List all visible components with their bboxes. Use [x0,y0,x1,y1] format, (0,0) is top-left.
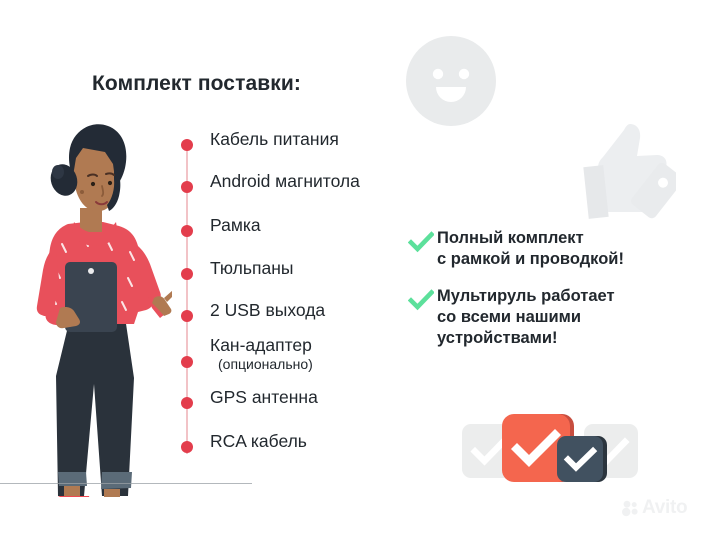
bullet-dot-icon [181,181,193,193]
benefit-label: Мультируль работает со всеми нашими устр… [437,286,615,349]
benefits-block: Полный комплект с рамкой и проводкой! Му… [408,228,708,363]
avito-wordmark: Avito [642,497,687,519]
promo-card: Комплект поставки: [0,0,720,540]
list-item-label: RCA кабель [210,430,307,453]
list-item-label: Кан-адаптер [210,334,312,357]
list-item-label: Рамка [210,214,261,237]
list-item: GPS антенна [176,386,466,420]
thumbs-up-icon [580,122,676,226]
check-icon [408,229,434,255]
woman-pointing-illustration [12,112,172,497]
bullet-dot-icon [181,397,193,409]
list-item-label: 2 USB выхода [210,299,325,322]
list-item-label: Тюльпаны [210,257,293,280]
list-item-sublabel: (опционально) [218,355,313,373]
bullet-dot-icon [181,441,193,453]
ground-line [0,483,252,484]
list-item-label: Android магнитола [210,170,360,193]
list-item-label: Кабель питания [210,128,339,151]
benefit-row: Полный комплект с рамкой и проводкой! [408,228,708,270]
checkbox-cards-graphic [462,412,638,488]
benefit-row: Мультируль работает со всеми нашими устр… [408,286,708,349]
list-item-label: GPS антенна [210,386,318,409]
avito-watermark: Avito [622,497,687,519]
bullet-dot-icon [181,268,193,280]
benefit-label: Полный комплект с рамкой и проводкой! [437,228,624,270]
bullet-dot-icon [181,310,193,322]
bullet-dot-icon [181,139,193,151]
list-item: RCA кабель [176,430,466,464]
smiley-face-icon [405,35,497,127]
page-title: Комплект поставки: [92,72,301,96]
checkbox-card-dark [557,436,603,482]
list-item: Кабель питания [176,128,466,162]
bullet-dot-icon [181,356,193,368]
list-item: Android магнитола [176,170,466,204]
check-icon [408,287,434,313]
bullet-dot-icon [181,225,193,237]
avito-logo-icon [622,500,639,517]
